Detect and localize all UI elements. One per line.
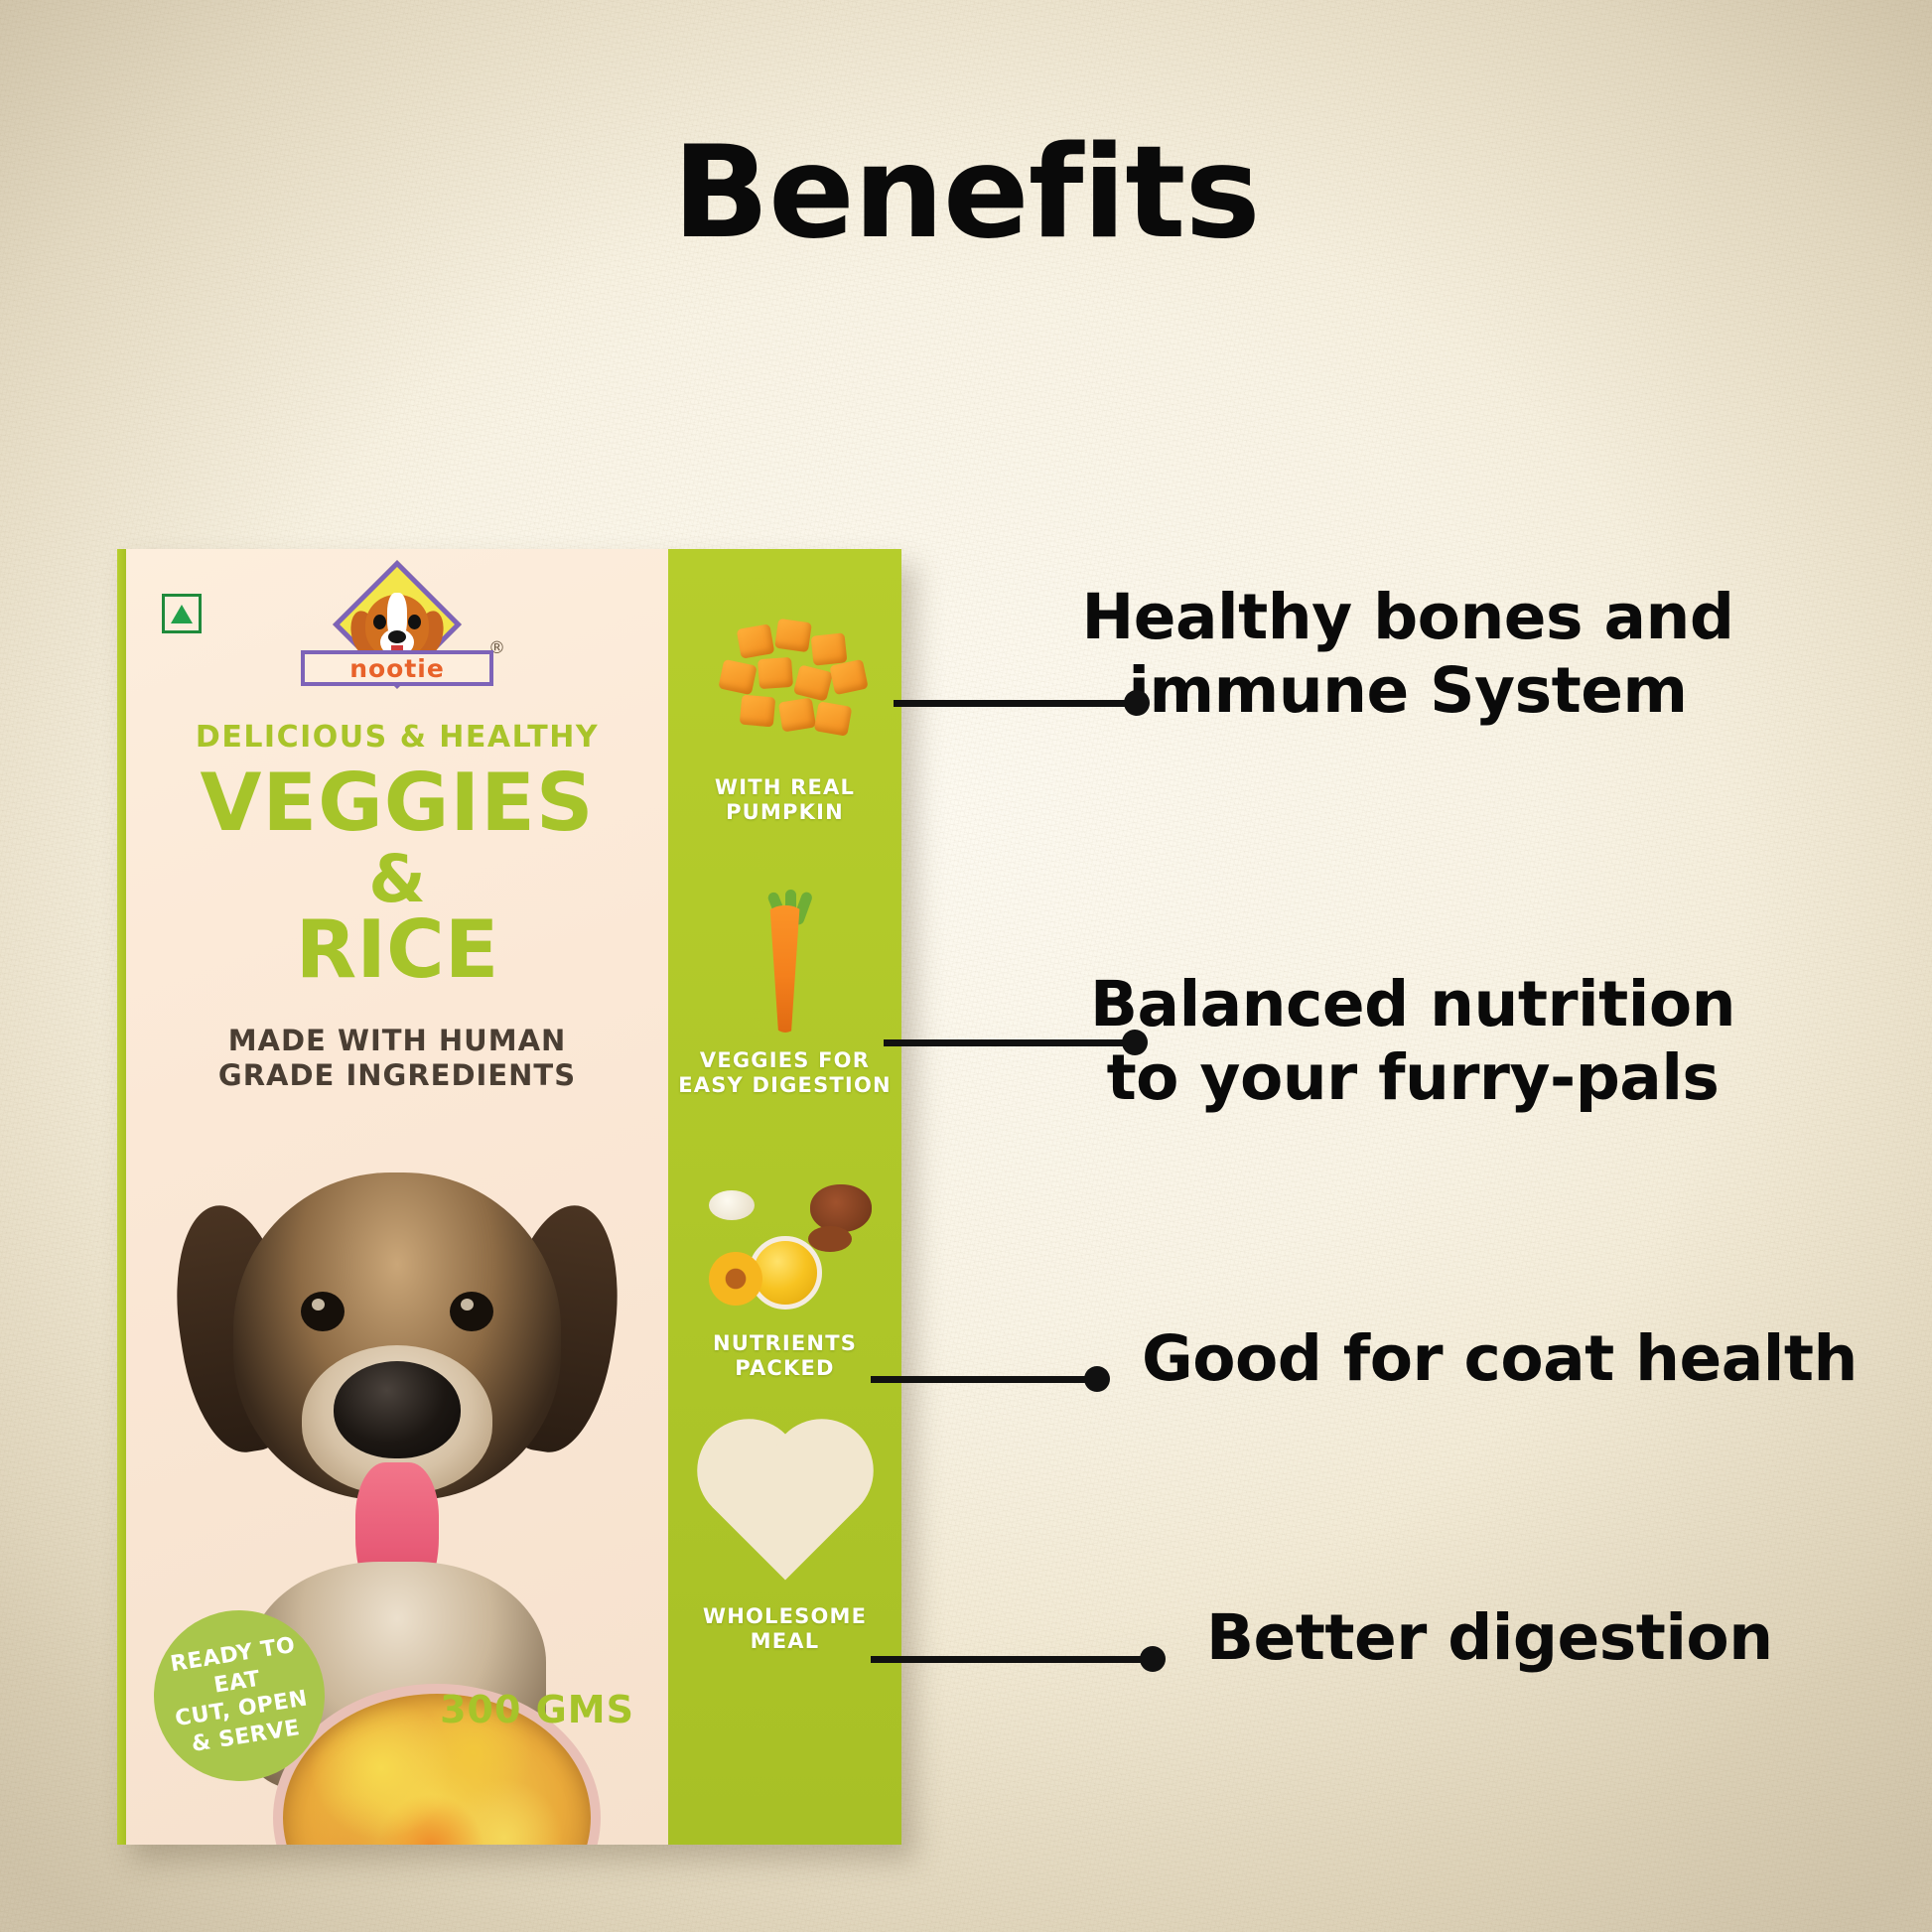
product-subtitle-line2: GRADE INGREDIENTS: [126, 1058, 668, 1093]
package-tagline: DELICIOUS & HEALTHY: [126, 720, 668, 755]
feature-veggies-line1: VEGGIES FOR: [668, 1048, 901, 1073]
green-veg-mark-icon: [162, 594, 202, 633]
feature-nutrients-line2: PACKED: [668, 1356, 901, 1381]
package-front-face: nootie ® DELICIOUS & HEALTHY VEGGIES & R…: [126, 549, 668, 1845]
connector-dot-3: [1084, 1366, 1110, 1392]
product-name-line2: &: [126, 848, 668, 910]
package-spine: [117, 549, 126, 1845]
brand-name: nootie: [349, 656, 445, 681]
benefit-text-2: Balanced nutrition to your furry-pals: [923, 968, 1902, 1116]
rice-heart-icon: [691, 1448, 880, 1596]
logo-dog-eye-right: [408, 615, 421, 629]
feature-veggies-caption: VEGGIES FOR EASY DIGESTION: [668, 1048, 901, 1098]
feature-nutrients-line1: NUTRIENTS: [668, 1331, 901, 1356]
connector-line-4: [871, 1656, 1147, 1663]
feature-veggies: VEGGIES FOR EASY DIGESTION: [668, 892, 901, 1098]
connector-line-3: [871, 1376, 1091, 1383]
benefit-text-3: Good for coat health: [1142, 1322, 1858, 1396]
connector-dot-4: [1140, 1646, 1166, 1672]
photo-dog-nose: [334, 1361, 461, 1458]
product-subtitle-line1: MADE WITH HUMAN: [126, 1024, 668, 1058]
feature-veggies-line2: EASY DIGESTION: [668, 1073, 901, 1098]
logo-banner: nootie: [301, 650, 493, 686]
infographic-page: Benefits nootie: [0, 0, 1932, 1932]
net-weight-label: 300 GMS: [440, 1688, 634, 1731]
benefit-text-4: Better digestion: [1206, 1601, 1773, 1675]
benefit-2-line2: to your furry-pals: [923, 1041, 1902, 1115]
product-subtitle: MADE WITH HUMAN GRADE INGREDIENTS: [126, 1024, 668, 1094]
feature-pumpkin-line1: WITH REAL: [668, 775, 901, 800]
photo-dog-eye-right: [450, 1292, 493, 1331]
logo-dog-eye-left: [373, 615, 386, 629]
benefit-1-line1: Healthy bones and: [923, 581, 1892, 654]
carrot-icon: [691, 892, 880, 1040]
logo-dog-nose: [388, 630, 406, 643]
nootie-logo: nootie ®: [293, 577, 501, 706]
benefit-3-line1: Good for coat health: [1142, 1322, 1858, 1396]
benefit-2-line1: Balanced nutrition: [923, 968, 1902, 1041]
benefit-text-1: Healthy bones and immune System: [923, 581, 1892, 729]
photo-dog-eye-left: [301, 1292, 345, 1331]
feature-pumpkin-line2: PUMPKIN: [668, 800, 901, 825]
connector-dot-1: [1124, 690, 1150, 716]
product-name-line1: VEGGIES: [126, 765, 668, 842]
feature-wholesome: WHOLESOME MEAL: [668, 1448, 901, 1654]
feature-pumpkin: WITH REAL PUMPKIN: [668, 619, 901, 825]
page-title: Benefits: [0, 119, 1932, 267]
product-name: VEGGIES & RICE: [126, 765, 668, 989]
pumpkin-cubes-icon: [691, 619, 880, 767]
connector-dot-2: [1122, 1030, 1148, 1055]
feature-nutrients: NUTRIENTS PACKED: [668, 1174, 901, 1381]
feature-nutrients-caption: NUTRIENTS PACKED: [668, 1331, 901, 1381]
package-side-panel: WITH REAL PUMPKIN VEGGIES FOR EASY DIGES…: [668, 549, 901, 1845]
feature-pumpkin-caption: WITH REAL PUMPKIN: [668, 775, 901, 825]
benefit-1-line2: immune System: [923, 654, 1892, 728]
seeds-oil-icon: [691, 1174, 880, 1323]
product-name-line3: RICE: [126, 912, 668, 989]
feature-wholesome-line2: MEAL: [668, 1629, 901, 1654]
benefit-4-line1: Better digestion: [1206, 1601, 1773, 1675]
product-package: nootie ® DELICIOUS & HEALTHY VEGGIES & R…: [117, 549, 901, 1845]
feature-wholesome-line1: WHOLESOME: [668, 1604, 901, 1629]
feature-wholesome-caption: WHOLESOME MEAL: [668, 1604, 901, 1654]
